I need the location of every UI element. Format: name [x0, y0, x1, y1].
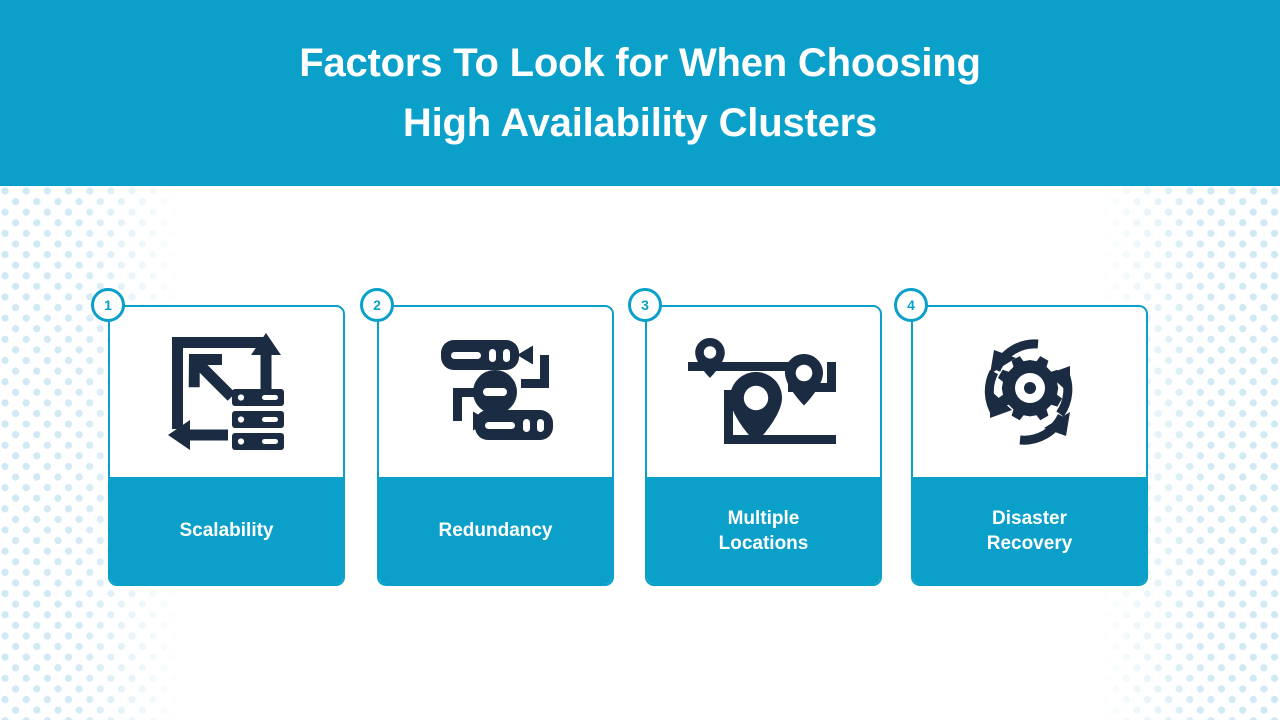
- card-icon-area: [110, 307, 343, 477]
- disaster-recovery-icon: [966, 328, 1094, 456]
- card-icon-area: [647, 307, 880, 477]
- card-icon-area: [379, 307, 612, 477]
- factor-card-redundancy[interactable]: Redundancy 2: [377, 305, 614, 586]
- multiple-locations-icon: [684, 332, 844, 452]
- page-title-line-2: High Availability Clusters: [403, 93, 877, 153]
- card-footer: Scalability: [110, 477, 343, 584]
- card-number-badge: 2: [360, 288, 394, 322]
- factor-card-row: Scalability 1: [0, 305, 1280, 590]
- card-body: Redundancy: [377, 305, 614, 586]
- card-footer: Disaster Recovery: [913, 477, 1146, 584]
- infographic-canvas: Factors To Look for When Choosing High A…: [0, 0, 1280, 720]
- card-body: Scalability: [108, 305, 345, 586]
- card-label: Redundancy: [430, 518, 560, 543]
- card-label: Multiple Locations: [711, 506, 817, 556]
- card-body: Disaster Recovery: [911, 305, 1148, 586]
- header-banner: Factors To Look for When Choosing High A…: [0, 0, 1280, 186]
- card-footer: Redundancy: [379, 477, 612, 584]
- card-footer: Multiple Locations: [647, 477, 880, 584]
- card-number-badge: 3: [628, 288, 662, 322]
- card-icon-area: [913, 307, 1146, 477]
- card-body: Multiple Locations: [645, 305, 882, 586]
- card-number-badge: 4: [894, 288, 928, 322]
- card-label: Scalability: [172, 518, 282, 543]
- page-title-line-1: Factors To Look for When Choosing: [299, 33, 981, 93]
- factor-card-disaster-recovery[interactable]: Disaster Recovery 4: [911, 305, 1148, 586]
- factor-card-scalability[interactable]: Scalability 1: [108, 305, 345, 586]
- card-number-badge: 1: [91, 288, 125, 322]
- scalability-icon: [162, 327, 292, 457]
- redundancy-icon: [431, 332, 561, 452]
- factor-card-multiple-locations[interactable]: Multiple Locations 3: [645, 305, 882, 586]
- card-label: Disaster Recovery: [979, 506, 1081, 556]
